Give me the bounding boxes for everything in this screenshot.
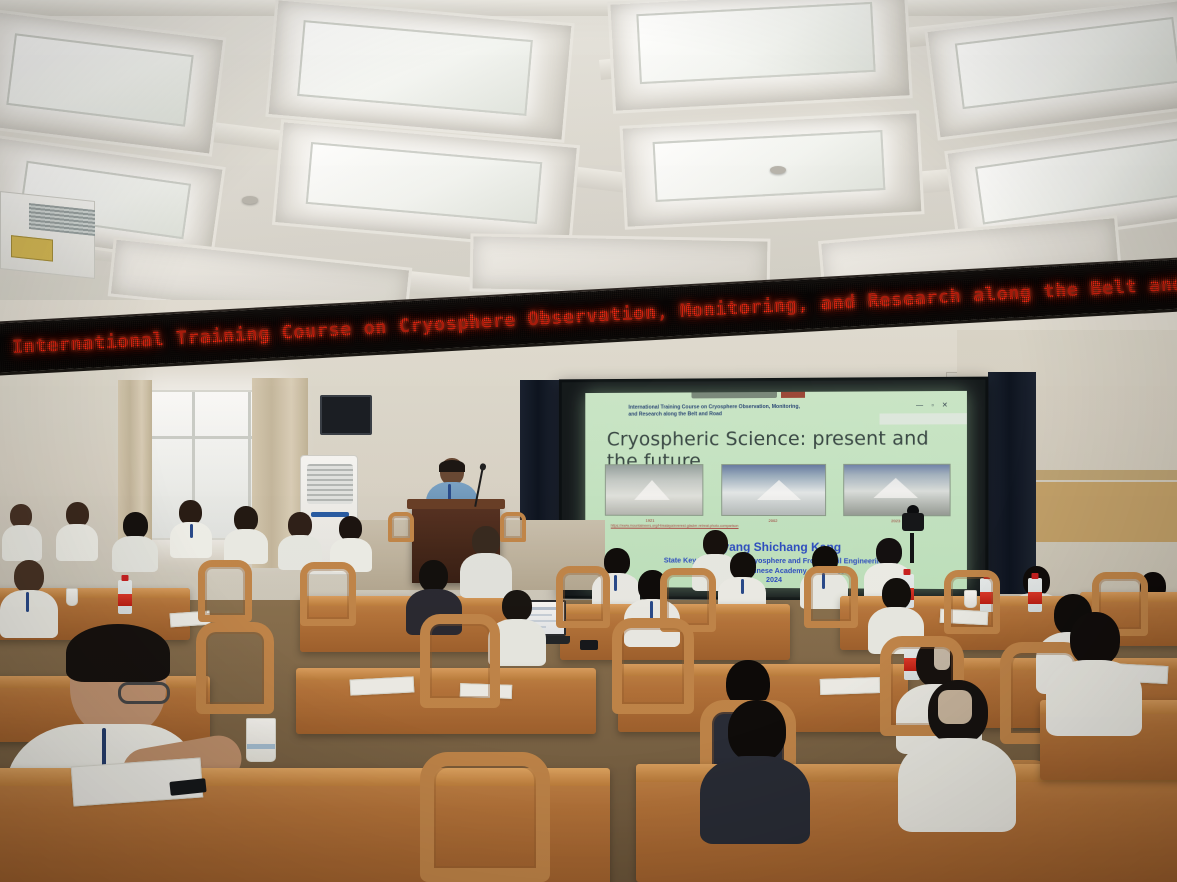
ceiling-light-panel (636, 2, 875, 84)
mobile-phone[interactable] (580, 640, 598, 650)
audience-member (278, 512, 322, 568)
chair[interactable] (804, 566, 858, 628)
chair[interactable] (198, 560, 252, 622)
video-camera (900, 505, 926, 535)
smoke-detector-icon (770, 166, 786, 174)
audience-member (0, 560, 58, 636)
audience-member (460, 526, 512, 596)
audience-member (224, 506, 268, 562)
handout-papers[interactable] (350, 676, 415, 695)
audience-member (718, 552, 766, 612)
ac-label (11, 235, 53, 261)
glacier-photo-row: 1921 2002 2023 (605, 464, 951, 523)
glacier-caption-1: 1921 (630, 518, 669, 523)
glacier-photo-2 (721, 464, 826, 516)
ac-vent (307, 464, 353, 504)
wall-air-conditioner (0, 191, 95, 279)
audience-member (112, 512, 158, 570)
chair[interactable] (300, 562, 356, 626)
slide-header: International Training Course on Cryosph… (628, 403, 877, 418)
slide-source-url[interactable]: https://www.mountaineers.org/Himalaya/ev… (611, 524, 739, 528)
camera-body (902, 513, 924, 531)
powerpoint-toolbar (691, 391, 777, 398)
chair[interactable] (944, 570, 1000, 634)
slide-header-line2: and Research along the Belt and Road (628, 411, 877, 419)
paper-cup[interactable] (246, 718, 276, 762)
chair[interactable] (556, 566, 610, 628)
audience-member (170, 500, 212, 556)
water-bottle[interactable] (118, 580, 132, 614)
chair[interactable] (420, 614, 500, 708)
curtain-dark-right (988, 372, 1036, 594)
ceiling-light-panel (653, 130, 886, 202)
wall-monitor (320, 395, 372, 435)
chair[interactable] (196, 622, 274, 714)
window-statusbar (880, 413, 967, 424)
glacier-caption-2: 2002 (753, 518, 793, 523)
ac-vent (29, 203, 95, 236)
window-controls[interactable]: — ▫ ✕ (916, 401, 963, 409)
chair[interactable] (388, 512, 414, 542)
glacier-photo-3 (843, 464, 950, 517)
podium-top (407, 499, 505, 509)
chair[interactable] (612, 618, 694, 714)
glacier-photo-1 (605, 464, 704, 516)
smoke-detector-icon (242, 196, 258, 204)
audience-member (898, 680, 1016, 830)
chair[interactable] (420, 752, 550, 882)
eyeglasses-icon (118, 682, 170, 704)
audience-member (700, 700, 810, 840)
audience-member (1046, 612, 1142, 732)
paper-cup[interactable] (66, 588, 78, 606)
handout-papers[interactable] (820, 677, 881, 695)
audience-member (56, 502, 98, 560)
conference-room-photo: International Training Course on Cryosph… (0, 0, 1177, 882)
audience-member (2, 504, 42, 560)
